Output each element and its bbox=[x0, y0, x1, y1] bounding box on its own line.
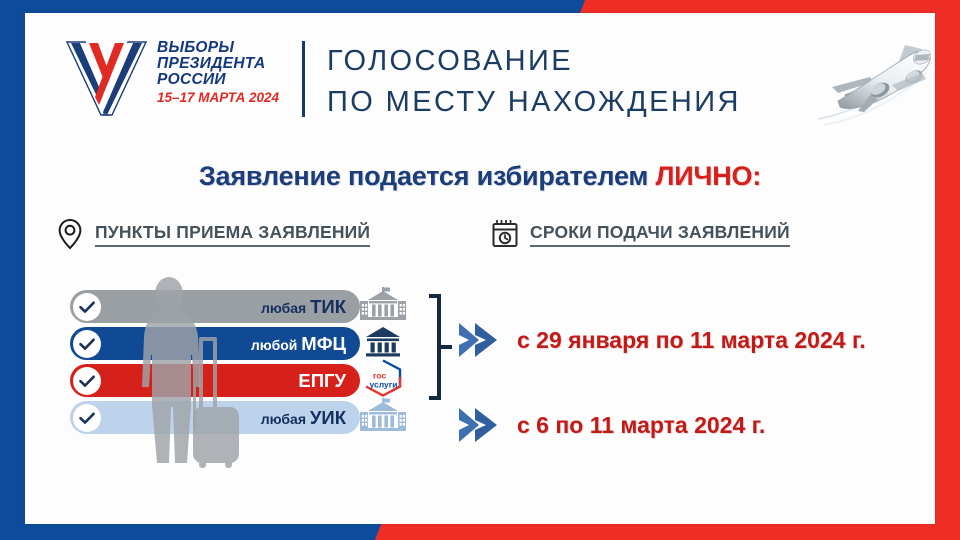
section-label-deadlines: СРОКИ ПОДАЧИ ЗАЯВЛЕНИЙ bbox=[530, 222, 790, 247]
calendar-clock-icon bbox=[490, 218, 520, 250]
grouping-bracket bbox=[429, 293, 453, 401]
content-card: ВЫБОРЫ ПРЕЗИДЕНТА РОССИИ 15–17 МАРТА 202… bbox=[25, 13, 935, 524]
page-title-line-1: ГОЛОСОВАНИЕ bbox=[327, 41, 741, 82]
uik-name: УИК bbox=[310, 407, 346, 428]
tik-name: ТИК bbox=[310, 296, 346, 317]
logo-wordmark: ВЫБОРЫ ПРЕЗИДЕНТА РОССИИ 15–17 МАРТА 202… bbox=[157, 40, 282, 107]
tik-prefix: любая bbox=[261, 300, 310, 316]
headline: Заявление подается избирателем ЛИЧНО: bbox=[25, 161, 935, 192]
uik-prefix: любая bbox=[261, 411, 310, 427]
logo-election-date: 15–17 МАРТА 2024 bbox=[157, 90, 282, 106]
election-logo: ВЫБОРЫ ПРЕЗИДЕНТА РОССИИ 15–17 МАРТА 202… bbox=[65, 35, 280, 120]
deadline-row-1: с 29 января по 11 марта 2024 г. bbox=[457, 319, 866, 361]
list-item-label: ЕПГУ bbox=[298, 370, 346, 392]
logo-line-3: РОССИИ bbox=[157, 72, 282, 88]
list-item-uik[interactable]: любая УИК bbox=[70, 401, 360, 434]
government-building-icon bbox=[355, 285, 411, 322]
logo-line-2: ПРЕЗИДЕНТА bbox=[157, 56, 282, 72]
logo-line-1: ВЫБОРЫ bbox=[157, 40, 282, 56]
deadline-text-2: с 6 по 11 марта 2024 г. bbox=[517, 412, 765, 439]
page-title-line-2: ПО МЕСТУ НАХОЖДЕНИЯ bbox=[327, 82, 741, 123]
list-item-label: любая УИК bbox=[261, 407, 346, 429]
russia-flag-v-logo-icon bbox=[65, 37, 150, 119]
headline-emphasis: ЛИЧНО: bbox=[656, 161, 762, 191]
bank-columns-icon bbox=[355, 322, 411, 359]
check-circle-icon bbox=[73, 330, 101, 358]
map-pin-icon bbox=[55, 218, 85, 250]
list-item-tik[interactable]: любая ТИК bbox=[70, 290, 360, 323]
double-chevron-right-icon bbox=[457, 319, 503, 361]
list-item-label: любая ТИК bbox=[261, 296, 346, 318]
list-item-label: любой МФЦ bbox=[251, 333, 346, 355]
check-circle-icon bbox=[73, 367, 101, 395]
double-chevron-right-icon bbox=[457, 404, 503, 446]
deadline-row-2: с 6 по 11 марта 2024 г. bbox=[457, 404, 765, 446]
deadline-text-1: с 29 января по 11 марта 2024 г. bbox=[517, 327, 866, 354]
page-title: ГОЛОСОВАНИЕ ПО МЕСТУ НАХОЖДЕНИЯ bbox=[327, 41, 741, 123]
mfc-name: МФЦ bbox=[301, 333, 346, 354]
check-circle-icon bbox=[73, 404, 101, 432]
section-label-places: ПУНКТЫ ПРИЕМА ЗАЯВЛЕНИЙ bbox=[95, 222, 370, 247]
list-item-epgu[interactable]: ЕПГУ bbox=[70, 364, 360, 397]
list-item-mfc[interactable]: любой МФЦ bbox=[70, 327, 360, 360]
place-type-icons: гос услуги bbox=[355, 285, 411, 433]
mfc-prefix: любой bbox=[251, 337, 301, 353]
check-circle-icon bbox=[73, 293, 101, 321]
polling-station-building-icon bbox=[355, 396, 411, 433]
svg-text:услуги: услуги bbox=[370, 379, 398, 389]
poster-root: ВЫБОРЫ ПРЕЗИДЕНТА РОССИИ 15–17 МАРТА 202… bbox=[0, 0, 960, 540]
places-list: любая ТИК любой МФЦ ЕПГУ bbox=[70, 290, 360, 438]
section-header-places: ПУНКТЫ ПРИЕМА ЗАЯВЛЕНИЙ bbox=[55, 218, 370, 250]
headline-main: Заявление подается избирателем bbox=[199, 161, 656, 191]
header-divider bbox=[302, 41, 305, 117]
header: ВЫБОРЫ ПРЕЗИДЕНТА РОССИИ 15–17 МАРТА 202… bbox=[25, 13, 935, 138]
gosuslugi-logo-icon: гос услуги bbox=[355, 359, 411, 396]
section-header-deadlines: СРОКИ ПОДАЧИ ЗАЯВЛЕНИЙ bbox=[490, 218, 790, 250]
epgu-name: ЕПГУ bbox=[298, 370, 346, 391]
airplane-icon bbox=[810, 33, 955, 133]
